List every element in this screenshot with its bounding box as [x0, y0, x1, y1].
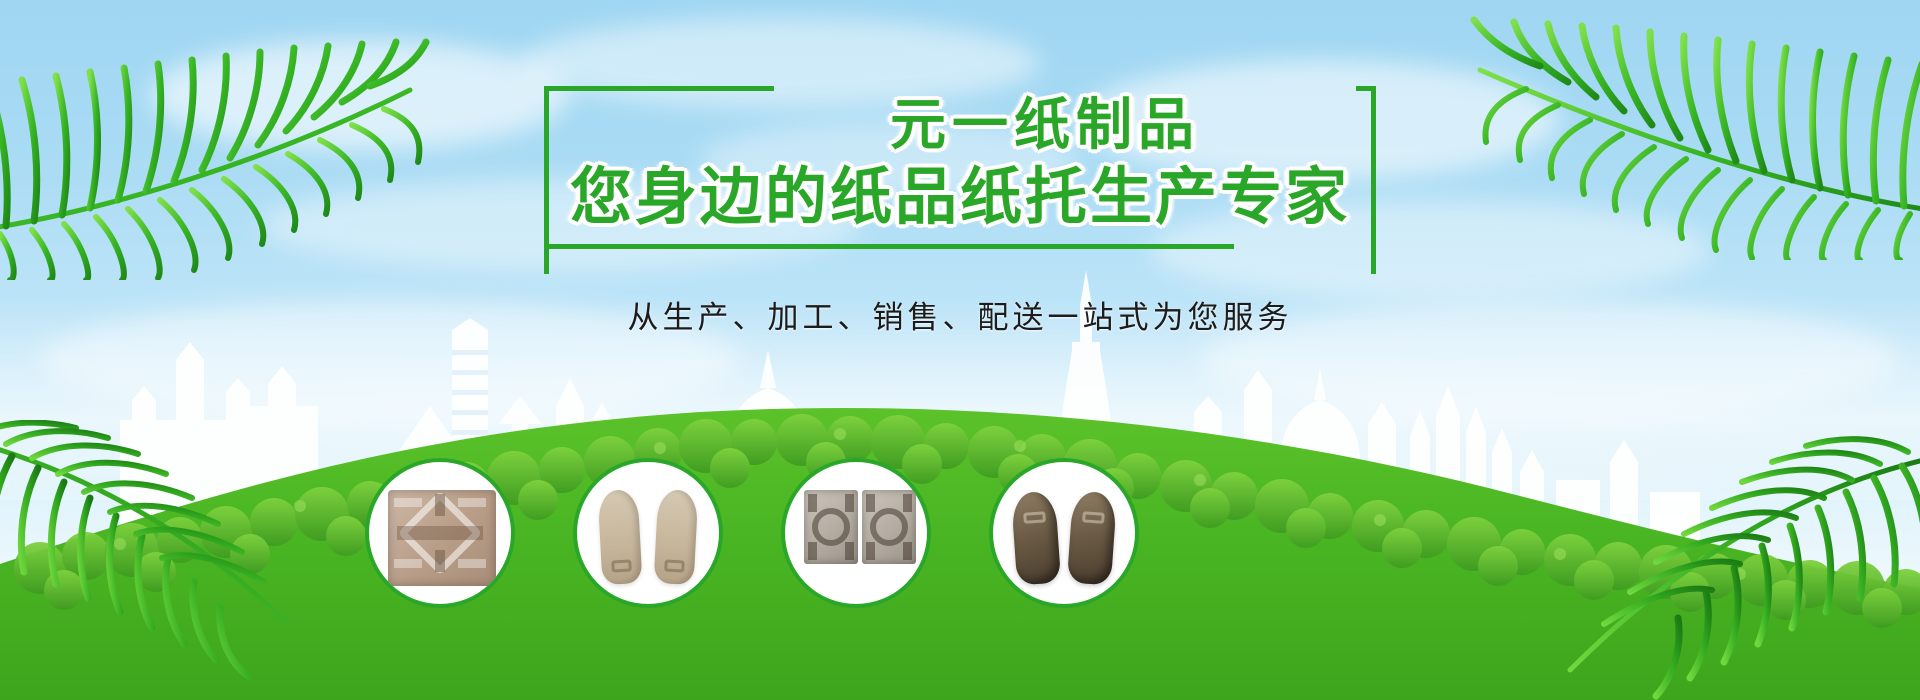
product-circle-grey-pulp-trays[interactable]: [781, 458, 931, 608]
product-image-dark-shoe-trees: [1012, 490, 1116, 576]
headline-line-2: 您身边的纸品纸托生产专家: [570, 162, 1350, 233]
product-circle-square-pulp-tray[interactable]: [365, 458, 515, 608]
frame-edge-bottom: [544, 244, 1234, 249]
pulp-tray-right: [862, 490, 916, 564]
product-image-paper-insoles: [596, 490, 700, 576]
palm-frond-top-left-icon: [0, 0, 430, 280]
banner-subtitle: 从生产、加工、销售、配送一站式为您服务: [0, 292, 1920, 337]
grey-pulp-trays-icon: [804, 490, 916, 564]
product-image-grey-pulp-trays: [804, 490, 908, 576]
headline-frame: 元一纸制品 您身边的纸品纸托生产专家: [544, 78, 1376, 249]
product-image-square-pulp-tray: [388, 490, 492, 576]
square-pulp-tray-icon: [388, 490, 496, 586]
product-circle-paper-insoles[interactable]: [573, 458, 723, 608]
insole-right-icon: [654, 489, 699, 585]
product-circle-dark-shoe-trees[interactable]: [989, 458, 1139, 608]
headline-line-1: 元一纸制品: [570, 94, 1350, 156]
insole-left-icon: [598, 489, 643, 585]
frame-edge-top-left: [544, 86, 774, 91]
frame-edge-right: [1371, 86, 1376, 274]
palm-frond-top-right-icon: [1460, 0, 1920, 260]
palm-frond-bottom-right-icon: [1550, 430, 1920, 700]
promo-banner: 元一纸制品 您身边的纸品纸托生产专家 从生产、加工、销售、配送一站式为您服务: [0, 0, 1920, 700]
frame-edge-top-right: [1356, 86, 1376, 91]
shoe-tree-left-icon: [1011, 491, 1061, 586]
pulp-tray-left: [804, 490, 858, 564]
palm-frond-bottom-left-icon: [0, 420, 290, 680]
shoe-tree-right-icon: [1067, 491, 1117, 586]
